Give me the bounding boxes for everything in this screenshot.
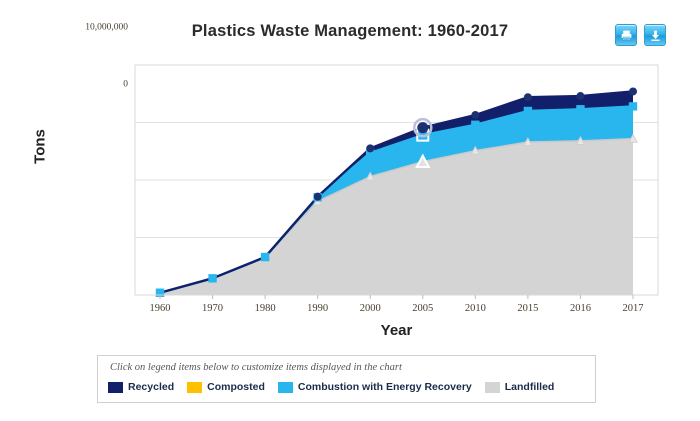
legend-label: Recycled (128, 381, 174, 393)
y-axis-label: Tons (32, 102, 49, 192)
legend-hint: Click on legend items below to customize… (110, 362, 402, 373)
legend-item-recycled[interactable]: Recycled (108, 381, 174, 393)
legend-swatch (187, 382, 202, 393)
x-axis-label: Year (135, 322, 658, 339)
legend-item-landfilled[interactable]: Landfilled (485, 381, 555, 393)
legend-label: Landfilled (505, 381, 555, 393)
legend-label: Composted (207, 381, 265, 393)
legend: Click on legend items below to customize… (97, 355, 596, 403)
legend-items: RecycledCompostedCombustion with Energy … (108, 381, 567, 393)
legend-item-composted[interactable]: Composted (187, 381, 265, 393)
legend-label: Combustion with Energy Recovery (298, 381, 472, 393)
legend-swatch (485, 382, 500, 393)
legend-item-combustion-with-energy-recovery[interactable]: Combustion with Energy Recovery (278, 381, 472, 393)
legend-swatch (108, 382, 123, 393)
legend-swatch (278, 382, 293, 393)
chart-page: Plastics Waste Management: 1960-2017 0 (0, 0, 700, 421)
